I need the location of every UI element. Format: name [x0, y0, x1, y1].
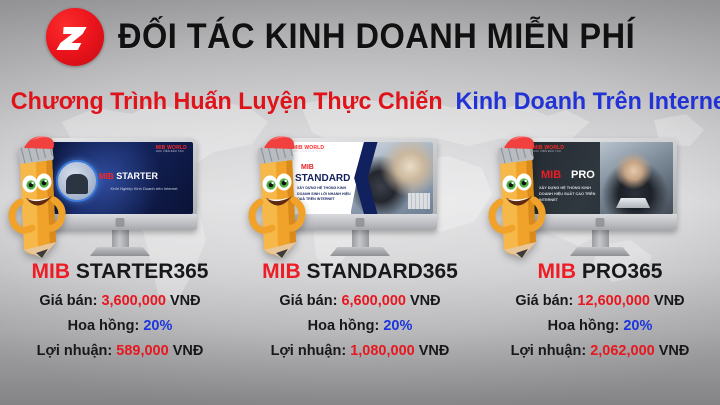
monitor-screen: MIB WORLD HỌC VIỆN ĐÀO TẠO MIB STARTER K…: [47, 142, 193, 214]
screen-title-starter: MIB STARTER: [99, 172, 158, 181]
product-price-row-pro: Giá bán: 12,600,000 VNĐ: [480, 293, 720, 309]
product-info-standard: MIB STANDARD365 Giá bán: 6,600,000 VNĐ H…: [240, 260, 480, 368]
profit-label: Lợi nhuận:: [37, 343, 113, 359]
commission-value: 20%: [383, 318, 412, 334]
z-letter-icon: [55, 17, 95, 57]
price-value: 6,600,000: [341, 293, 406, 309]
product-profit-row-standard: Lợi nhuận: 1,080,000 VNĐ: [240, 343, 480, 359]
product-commission-row-standard: Hoa hồng: 20%: [240, 318, 480, 334]
price-label: Giá bán:: [279, 293, 337, 309]
product-columns: MIB WORLD HỌC VIỆN ĐÀO TẠO MIB STARTER K…: [0, 128, 720, 398]
monitor-neck: [112, 230, 129, 247]
screen-content-pro: MIB WORLD HỌC VIỆN ĐÀO TẠO MIB PRO XÂY D…: [527, 142, 673, 214]
profit-currency: VNĐ: [659, 343, 690, 359]
product-tier: STANDARD365: [307, 260, 458, 283]
screen-photo-pro: [600, 142, 673, 214]
screen-logo-starter: MIB WORLD HỌC VIỆN ĐÀO TẠO: [156, 146, 187, 154]
monitor-base: [90, 247, 150, 256]
product-profit-row-pro: Lợi nhuận: 2,062,000 VNĐ: [480, 343, 720, 359]
product-commission-row-starter: Hoa hồng: 20%: [0, 318, 240, 334]
screen-logo-subtitle: HỌC VIỆN ĐÀO TẠO: [156, 151, 187, 154]
product-info-pro: MIB PRO365 Giá bán: 12,600,000 VNĐ Hoa h…: [480, 260, 720, 368]
pencil-mascot-icon: [246, 132, 308, 258]
price-label: Giá bán:: [515, 293, 573, 309]
monitor-neck: [592, 230, 609, 247]
pencil-mascot-icon: [486, 132, 548, 258]
screen-content-starter: MIB WORLD HỌC VIỆN ĐÀO TẠO MIB STARTER K…: [47, 142, 193, 214]
profit-value: 2,062,000: [590, 343, 655, 359]
monitor-neck: [352, 230, 369, 247]
profit-value: 589,000: [116, 343, 168, 359]
product-info-starter: MIB STARTER365 Giá bán: 3,600,000 VNĐ Ho…: [0, 260, 240, 368]
product-card-starter[interactable]: MIB WORLD HỌC VIỆN ĐÀO TẠO MIB STARTER K…: [0, 128, 240, 398]
profit-currency: VNĐ: [419, 343, 450, 359]
price-currency: VNĐ: [170, 293, 201, 309]
product-name-standard: MIB STANDARD365: [240, 260, 480, 284]
screen-tagline-starter: Khởi Nghiệp Kinh Doanh trên Internet: [97, 186, 191, 192]
monitor-screen: MIB WORLD HỌC VIỆN ĐÀO TẠO MIB STANDARD …: [287, 142, 433, 214]
price-value: 3,600,000: [101, 293, 166, 309]
profit-currency: VNĐ: [173, 343, 204, 359]
commission-label: Hoa hồng:: [308, 318, 380, 334]
product-name-pro: MIB PRO365: [480, 260, 720, 284]
product-brand: MIB: [538, 260, 577, 283]
device-illustration-starter: MIB WORLD HỌC VIỆN ĐÀO TẠO MIB STARTER K…: [0, 128, 240, 260]
screen-name-starter: STARTER: [116, 171, 158, 181]
device-illustration-standard: MIB WORLD HỌC VIỆN ĐÀO TẠO MIB STANDARD …: [240, 128, 480, 260]
subtitle-red-part: Chương Trình Huấn Luyện Thực Chiến: [11, 88, 443, 115]
commission-label: Hoa hồng:: [68, 318, 140, 334]
price-label: Giá bán:: [39, 293, 97, 309]
pencil-mascot-icon: [6, 132, 68, 258]
monitor-screen: MIB WORLD HỌC VIỆN ĐÀO TẠO MIB PRO XÂY D…: [527, 142, 673, 214]
profit-label: Lợi nhuận:: [511, 343, 587, 359]
product-price-row-standard: Giá bán: 6,600,000 VNĐ: [240, 293, 480, 309]
subtitle-blue-part: Kinh Doanh Trên Internet: [456, 88, 720, 115]
screen-tagline-pro: XÂY DỰNG HỆ THỐNG KINH DOANH HIỆU SUẤT C…: [539, 185, 605, 203]
monitor-base: [570, 247, 630, 256]
profit-label: Lợi nhuận:: [271, 343, 347, 359]
commission-value: 20%: [623, 318, 652, 334]
price-currency: VNĐ: [410, 293, 441, 309]
product-card-standard[interactable]: MIB WORLD HỌC VIỆN ĐÀO TẠO MIB STANDARD …: [240, 128, 480, 398]
promo-poster: ĐỐI TÁC KINH DOANH MIỄN PHÍ Chương Trình…: [0, 0, 720, 405]
screen-name-pro: PRO: [571, 169, 595, 181]
header: ĐỐI TÁC KINH DOANH MIỄN PHÍ: [0, 6, 720, 68]
price-currency: VNĐ: [654, 293, 685, 309]
product-profit-row-starter: Lợi nhuận: 589,000 VNĐ: [0, 343, 240, 359]
product-tier: STARTER365: [76, 260, 209, 283]
screen-brand-starter: MIB: [99, 172, 114, 181]
product-commission-row-pro: Hoa hồng: 20%: [480, 318, 720, 334]
product-card-pro[interactable]: MIB WORLD HỌC VIỆN ĐÀO TẠO MIB PRO XÂY D…: [480, 128, 720, 398]
screen-content-standard: MIB WORLD HỌC VIỆN ĐÀO TẠO MIB STANDARD …: [287, 142, 433, 214]
product-brand: MIB: [262, 260, 301, 283]
page-title: ĐỐI TÁC KINH DOANH MIỄN PHÍ: [118, 17, 635, 57]
commission-label: Hoa hồng:: [548, 318, 620, 334]
subtitle: Chương Trình Huấn Luyện Thực Chiến Kinh …: [11, 88, 709, 116]
product-price-row-starter: Giá bán: 3,600,000 VNĐ: [0, 293, 240, 309]
commission-value: 20%: [143, 318, 172, 334]
brand-logo: [46, 8, 104, 66]
profit-value: 1,080,000: [350, 343, 415, 359]
product-brand: MIB: [32, 260, 71, 283]
price-value: 12,600,000: [577, 293, 650, 309]
monitor-base: [330, 247, 390, 256]
device-illustration-pro: MIB WORLD HỌC VIỆN ĐÀO TẠO MIB PRO XÂY D…: [480, 128, 720, 260]
product-tier: PRO365: [582, 260, 663, 283]
product-name-starter: MIB STARTER365: [0, 260, 240, 284]
